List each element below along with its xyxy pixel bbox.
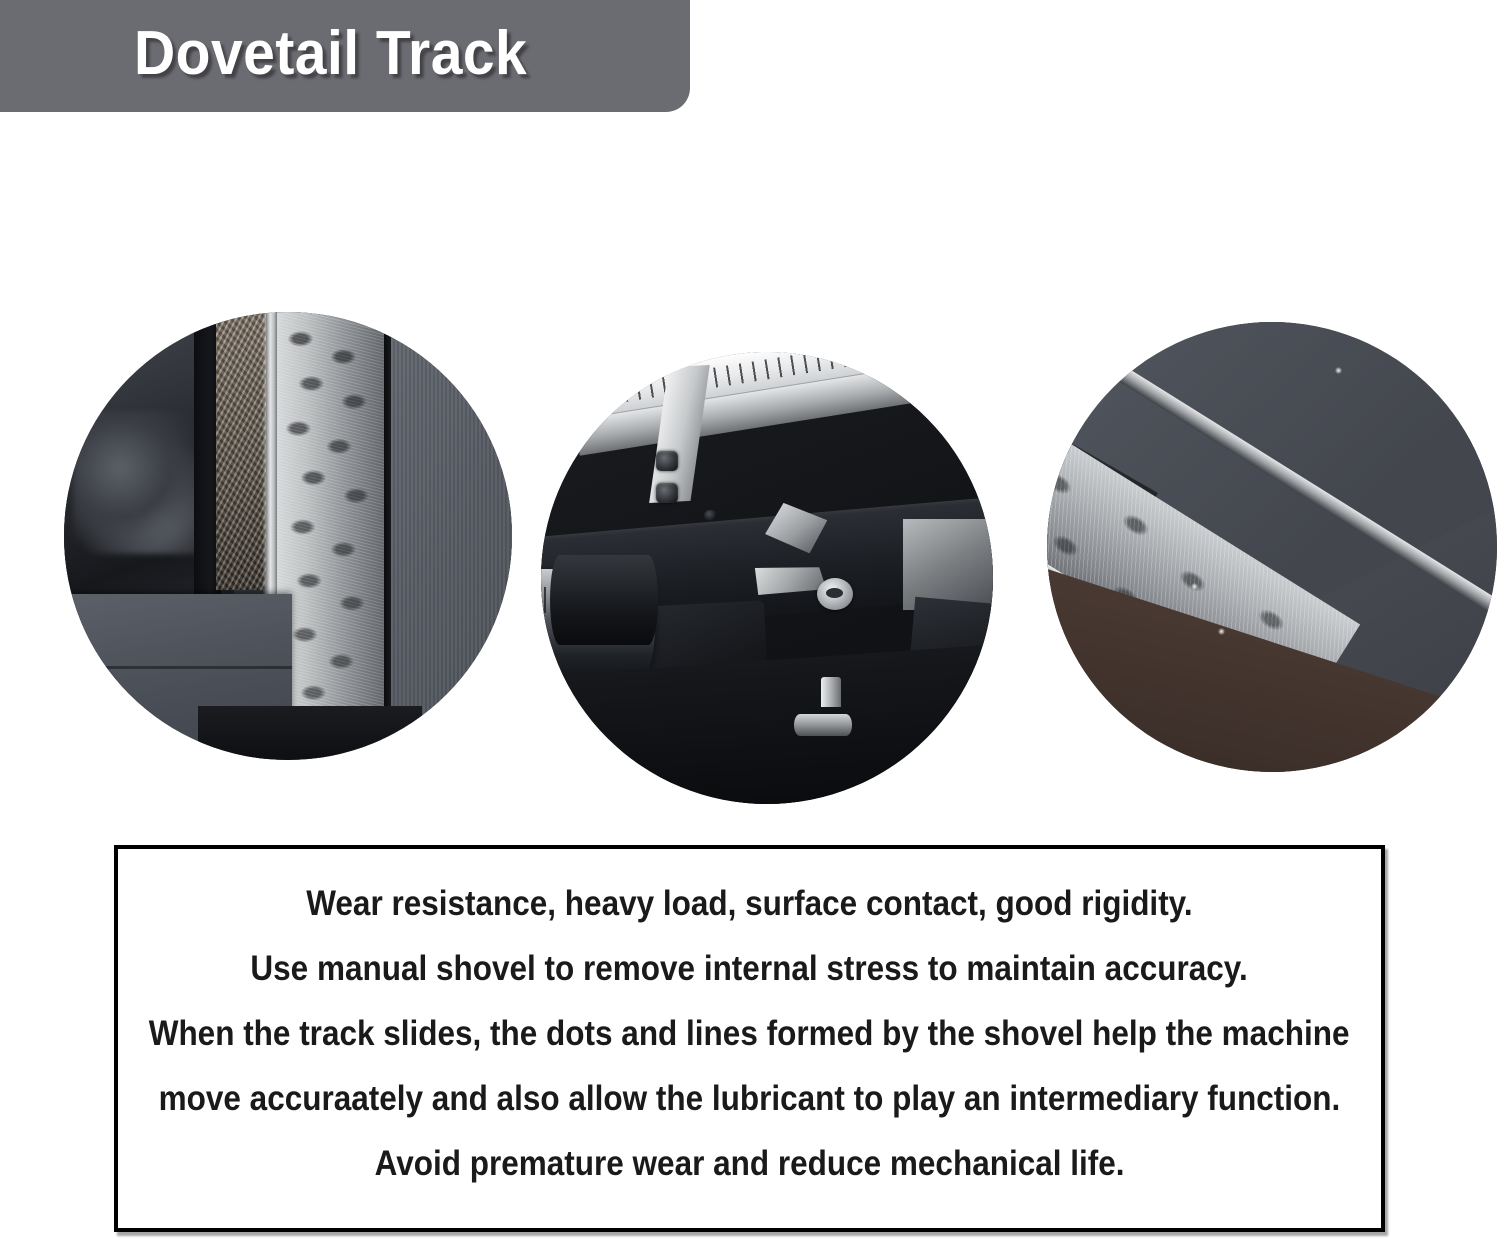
machine-base-shadow	[198, 706, 422, 760]
bolt-hole	[704, 510, 717, 521]
description-line-2: Use manual shovel to remove internal str…	[251, 936, 1248, 1001]
photo-diagonal-scraped-way	[1047, 322, 1497, 772]
socket-screw-lower	[656, 483, 678, 503]
header-banner: Dovetail Track	[0, 0, 690, 112]
description-line-3: When the track slides, the dots and line…	[149, 1001, 1350, 1066]
page-title: Dovetail Track	[134, 12, 527, 96]
dial-collar	[550, 555, 658, 645]
photo-vertical-dovetail-column	[64, 312, 512, 760]
description-box: Wear resistance, heavy load, surface con…	[114, 845, 1385, 1232]
rough-cast-column	[216, 312, 265, 590]
photo-2-content	[541, 352, 993, 804]
specular-dot-b	[1191, 583, 1198, 590]
specular-dot-a	[1335, 367, 1342, 374]
scraped-track-surface	[277, 312, 385, 760]
foreground-seam-line	[64, 666, 292, 669]
oil-nipple	[821, 677, 841, 707]
specular-dot-c	[1218, 628, 1225, 635]
machine-right-body	[391, 312, 512, 760]
photo-3-content	[1047, 322, 1497, 772]
description-line-5: Avoid premature wear and reduce mechanic…	[375, 1131, 1125, 1196]
description-line-1: Wear resistance, heavy load, surface con…	[306, 871, 1192, 936]
photo-1-content	[64, 312, 512, 760]
washer-nut	[817, 578, 853, 610]
description-line-4: move accuraately and also allow the lubr…	[159, 1066, 1341, 1131]
blurred-machine-parts	[73, 411, 207, 554]
oil-nipple-base	[794, 714, 852, 736]
photo-cross-slide-assembly	[541, 352, 993, 804]
socket-screw-upper	[656, 451, 678, 471]
